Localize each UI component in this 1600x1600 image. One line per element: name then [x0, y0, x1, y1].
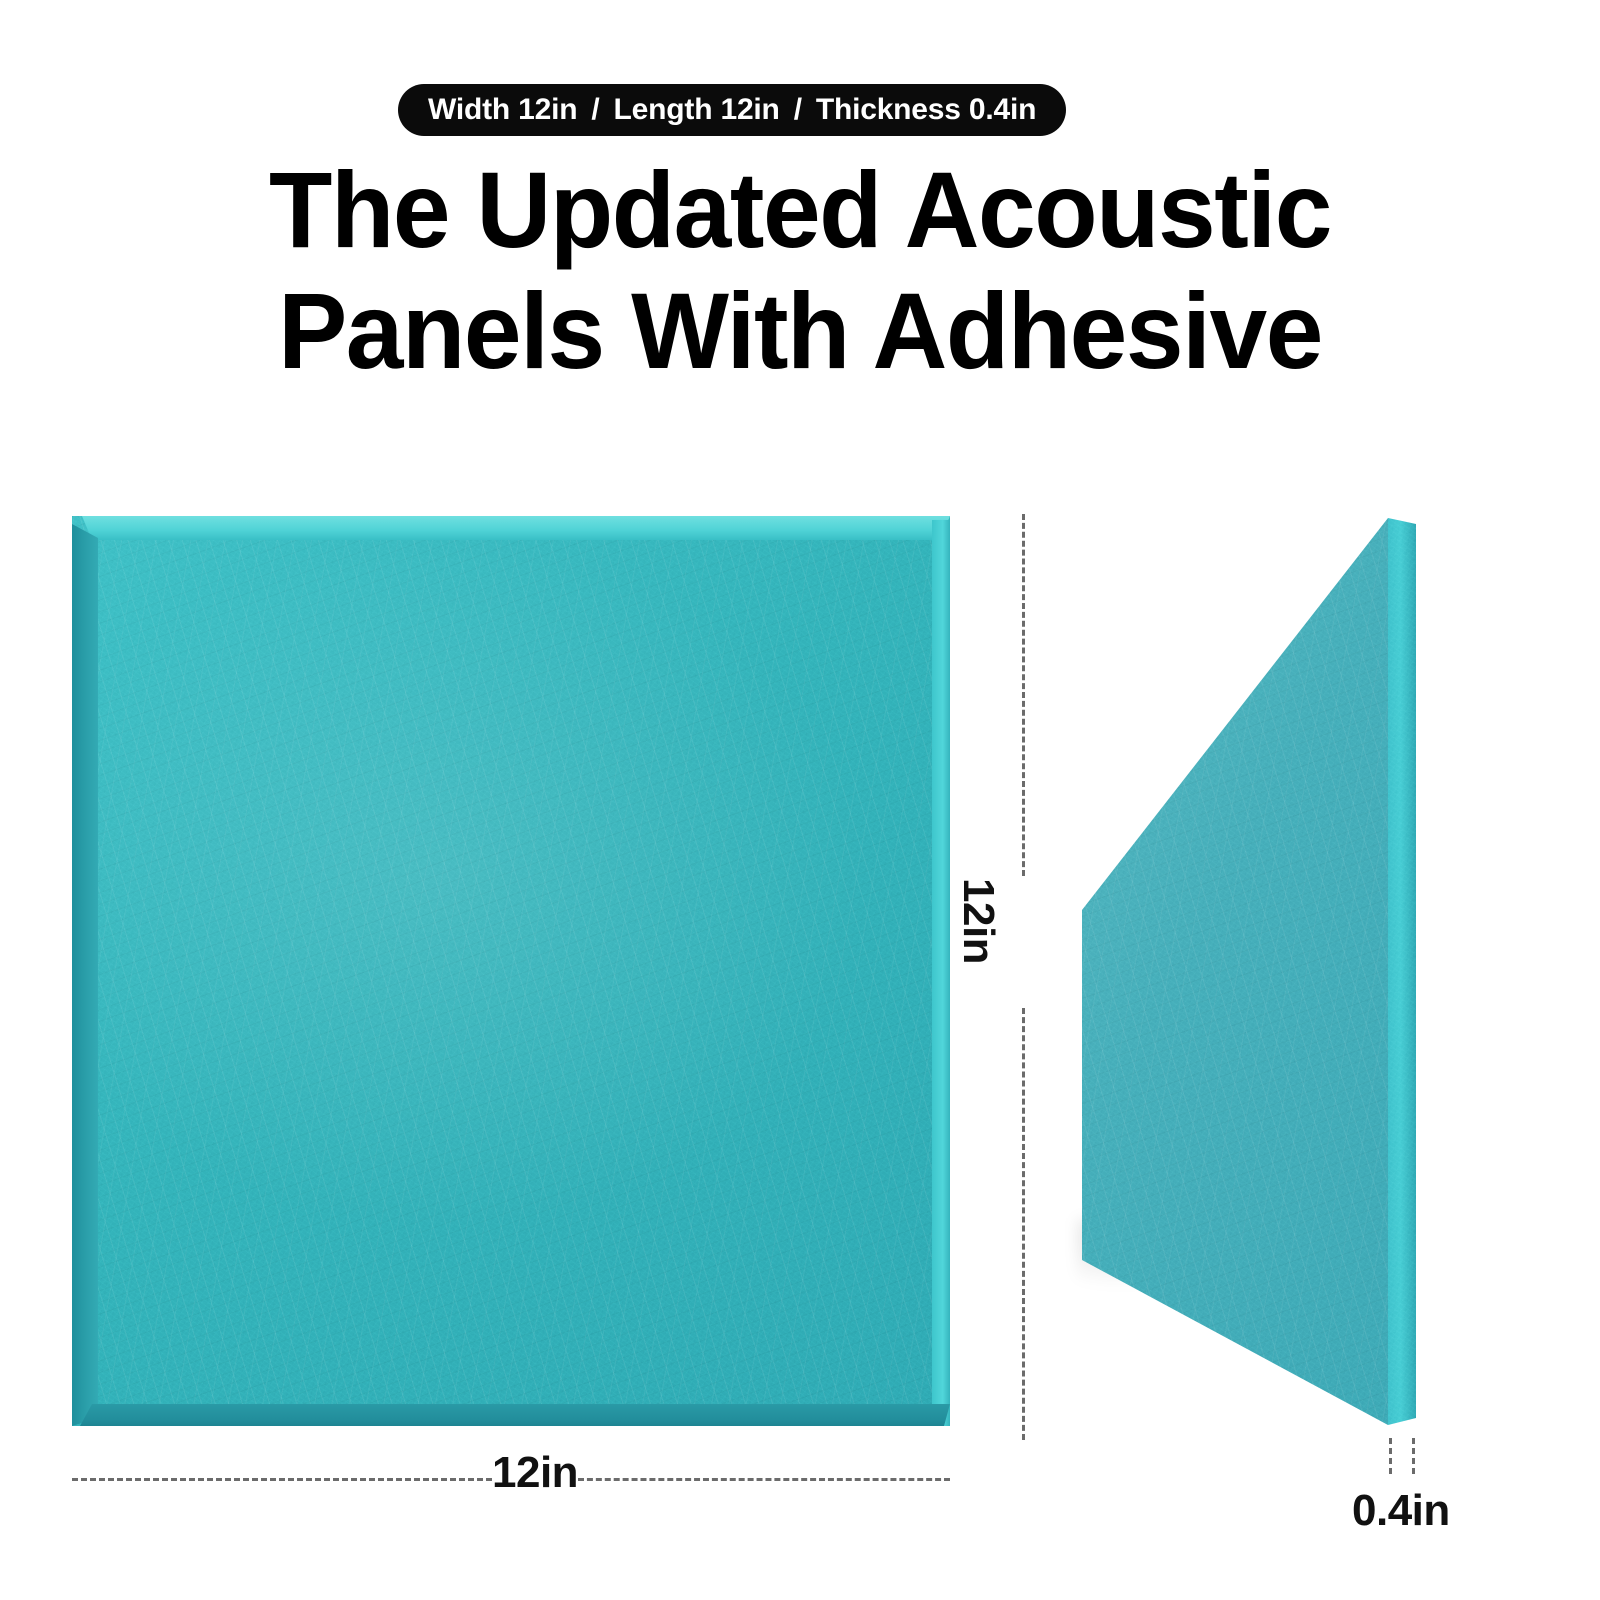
panel-right-edge — [932, 520, 950, 1426]
felt-texture — [1388, 518, 1416, 1430]
thickness-dimension-tick-left — [1389, 1438, 1392, 1474]
panel-thickness-edge — [1388, 518, 1416, 1430]
width-dimension-label: 12in — [492, 1448, 578, 1498]
panel-side-face — [1082, 518, 1416, 1430]
width-dimension-line-left — [72, 1478, 492, 1481]
width-dimension-line-right — [578, 1478, 950, 1481]
felt-texture — [1082, 518, 1416, 1430]
height-dimension-label: 12in — [953, 878, 1003, 964]
height-dimension-line-upper — [1022, 514, 1025, 876]
panel-left-edge — [72, 524, 98, 1426]
acoustic-panel-front-view — [72, 516, 950, 1426]
thickness-dimension-label: 0.4in — [1352, 1486, 1450, 1536]
panel-top-edge — [82, 516, 950, 540]
panel-bottom-edge — [80, 1404, 950, 1426]
panel-front-face — [72, 516, 950, 1426]
felt-texture-coarse — [1082, 518, 1416, 1430]
thickness-dimension-tick-right — [1412, 1438, 1415, 1474]
felt-texture — [72, 516, 950, 1426]
acoustic-panel-side-view — [1082, 518, 1416, 1430]
product-illustration: 12in 12in 0.4in — [0, 0, 1600, 1600]
height-dimension-line-lower — [1022, 1008, 1025, 1440]
felt-texture-coarse — [72, 516, 950, 1426]
